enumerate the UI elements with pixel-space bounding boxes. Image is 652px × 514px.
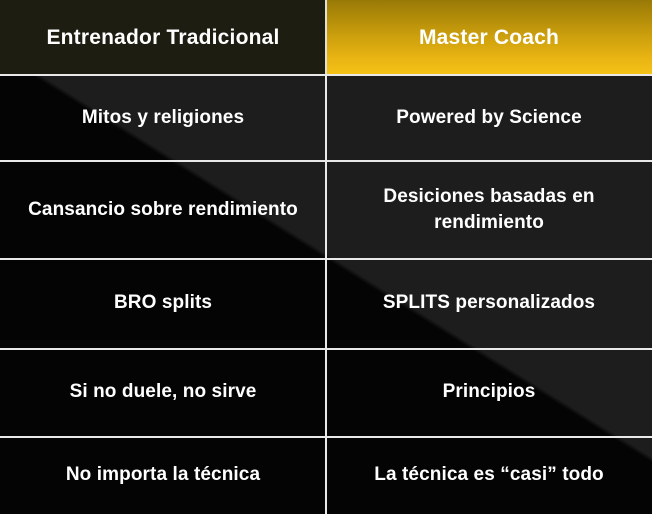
table-cell-right-5: La técnica es “casi” todo bbox=[326, 436, 652, 514]
comparison-table: Entrenador Tradicional Master Coach Mito… bbox=[0, 0, 652, 514]
table-grid: Entrenador Tradicional Master Coach Mito… bbox=[0, 0, 652, 514]
table-header-master-coach: Master Coach bbox=[326, 0, 652, 75]
table-cell-right-2: Desiciones basadas en rendimiento bbox=[326, 161, 652, 258]
table-cell-left-1: Mitos y religiones bbox=[0, 75, 326, 161]
table-cell-left-2: Cansancio sobre rendimiento bbox=[0, 161, 326, 258]
table-cell-right-4: Principios bbox=[326, 348, 652, 436]
table-cell-right-1: Powered by Science bbox=[326, 75, 652, 161]
table-header-traditional-coach: Entrenador Tradicional bbox=[0, 0, 326, 75]
table-cell-left-5: No importa la técnica bbox=[0, 436, 326, 514]
table-cell-right-3: SPLITS personalizados bbox=[326, 258, 652, 348]
table-cell-left-4: Si no duele, no sirve bbox=[0, 348, 326, 436]
table-cell-left-3: BRO splits bbox=[0, 258, 326, 348]
